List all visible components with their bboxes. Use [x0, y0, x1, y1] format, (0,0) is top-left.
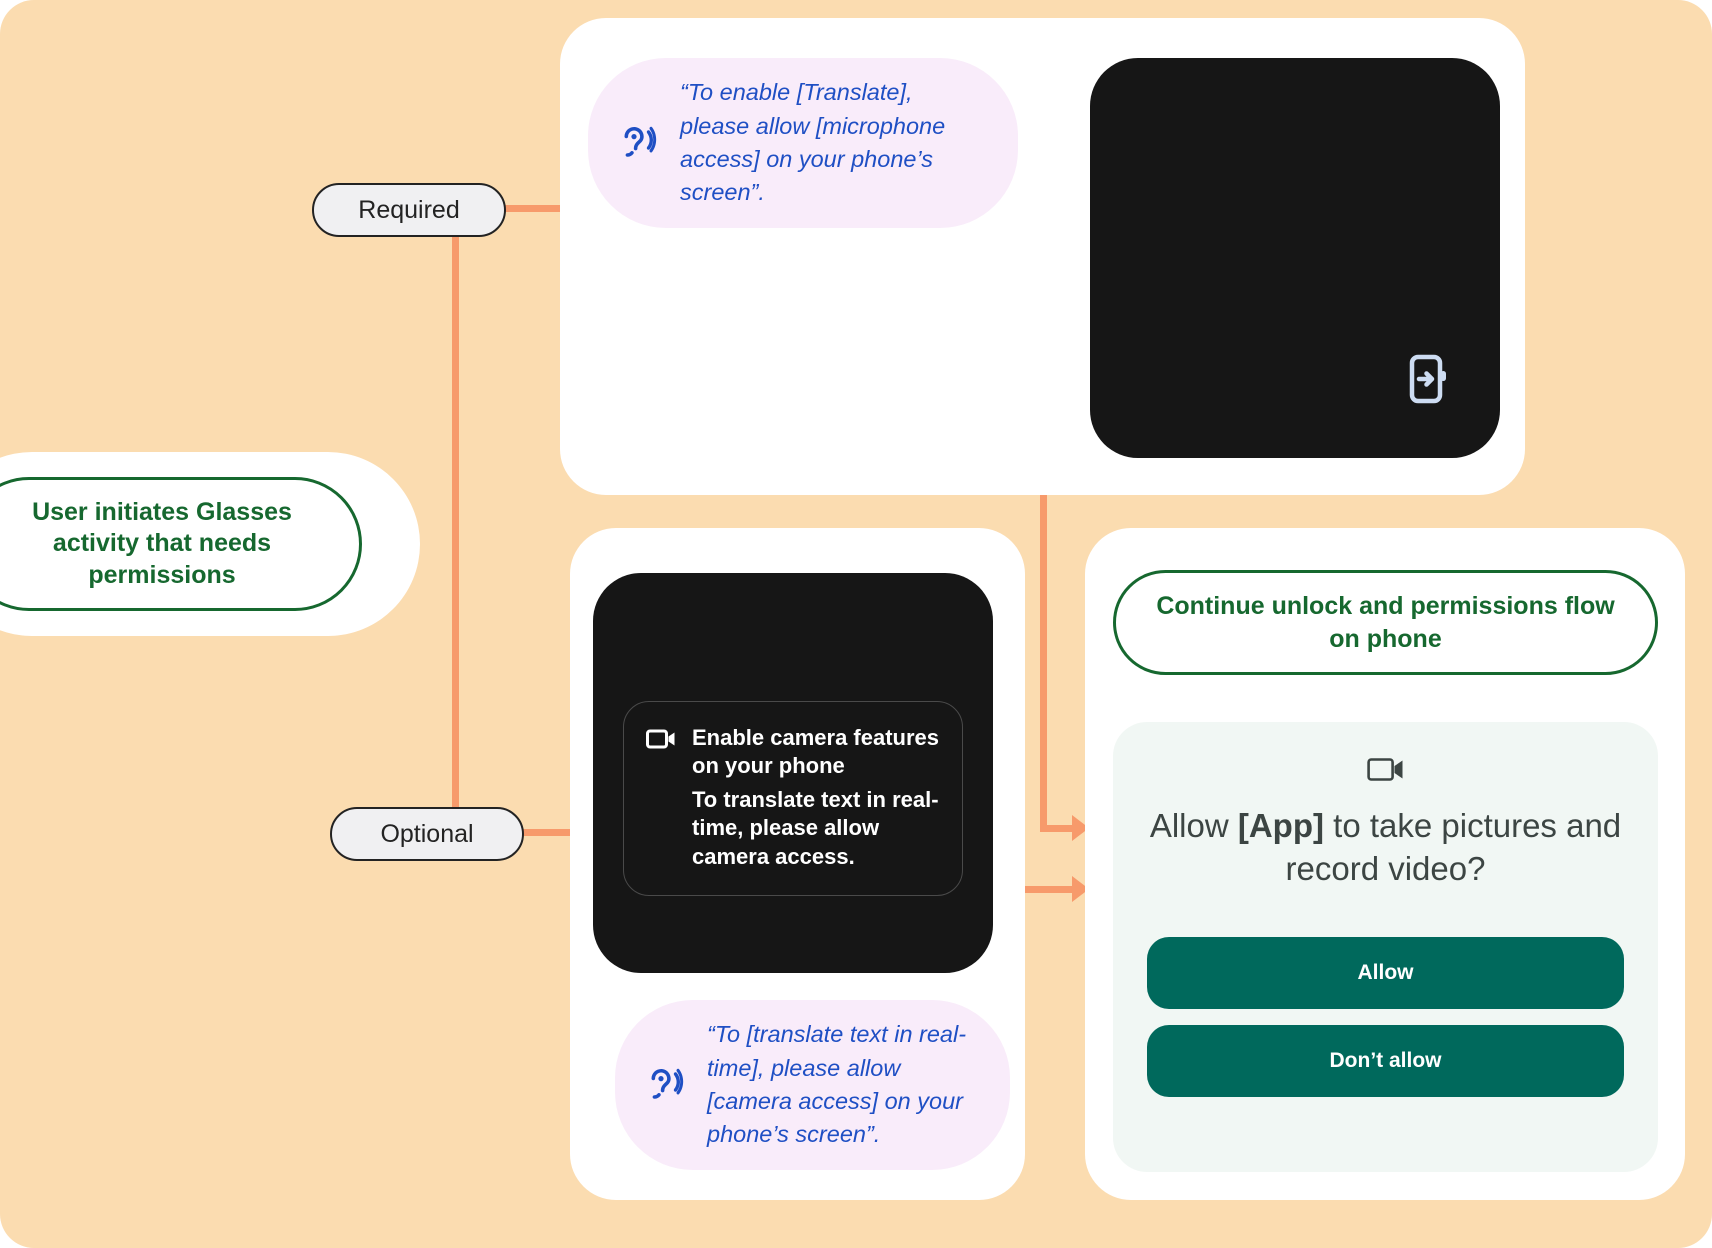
- branch-optional-pill[interactable]: Optional: [330, 807, 524, 861]
- glasses-notification-card: Enable camera features on your phone To …: [623, 701, 963, 896]
- permission-question-prefix: Allow: [1150, 807, 1238, 844]
- permission-question: Allow [App] to take pictures and record …: [1147, 805, 1624, 891]
- video-camera-icon: [646, 724, 676, 871]
- allow-button[interactable]: Allow: [1147, 937, 1624, 1009]
- required-voice-bubble: “To enable [Translate], please allow [mi…: [588, 58, 1018, 228]
- branch-optional-label: Optional: [380, 820, 473, 849]
- required-bubble-text: “To enable [Translate], please allow [mi…: [680, 76, 988, 209]
- start-node[interactable]: User initiates Glasses activity that nee…: [0, 477, 362, 611]
- notification-title: Enable camera features on your phone: [692, 724, 940, 780]
- permission-question-app: [App]: [1238, 807, 1324, 844]
- phone-flow-header: Continue unlock and permissions flow on …: [1113, 570, 1658, 675]
- permission-question-suffix: to take pictures and record video?: [1286, 807, 1622, 887]
- phone-continue-icon: [1406, 353, 1452, 410]
- start-node-label: User initiates Glasses activity that nee…: [0, 497, 333, 591]
- optional-bubble-text: “To [translate text in real-time], pleas…: [707, 1018, 980, 1151]
- start-node-container: User initiates Glasses activity that nee…: [0, 452, 420, 636]
- glasses-screen-required: [1090, 58, 1500, 458]
- ear-hearing-icon: [641, 1065, 689, 1105]
- ear-hearing-icon: [614, 123, 662, 163]
- connector-required-to-bubble: [500, 205, 566, 212]
- optional-voice-bubble: “To [translate text in real-time], pleas…: [615, 1000, 1010, 1170]
- branch-required-pill[interactable]: Required: [312, 183, 506, 237]
- connector-trunk-vertical: [452, 208, 459, 838]
- notification-body: To translate text in real-time, please a…: [692, 786, 940, 870]
- flow-diagram-canvas: “To enable [Translate], please allow [mi…: [0, 0, 1712, 1248]
- branch-required-label: Required: [358, 196, 459, 225]
- glasses-screen-optional: Enable camera features on your phone To …: [593, 573, 993, 973]
- phone-flow-header-label: Continue unlock and permissions flow on …: [1156, 590, 1615, 655]
- dont-allow-button[interactable]: Don’t allow: [1147, 1025, 1624, 1097]
- android-permission-dialog: Allow [App] to take pictures and record …: [1113, 722, 1658, 1172]
- video-camera-icon: [1147, 756, 1624, 783]
